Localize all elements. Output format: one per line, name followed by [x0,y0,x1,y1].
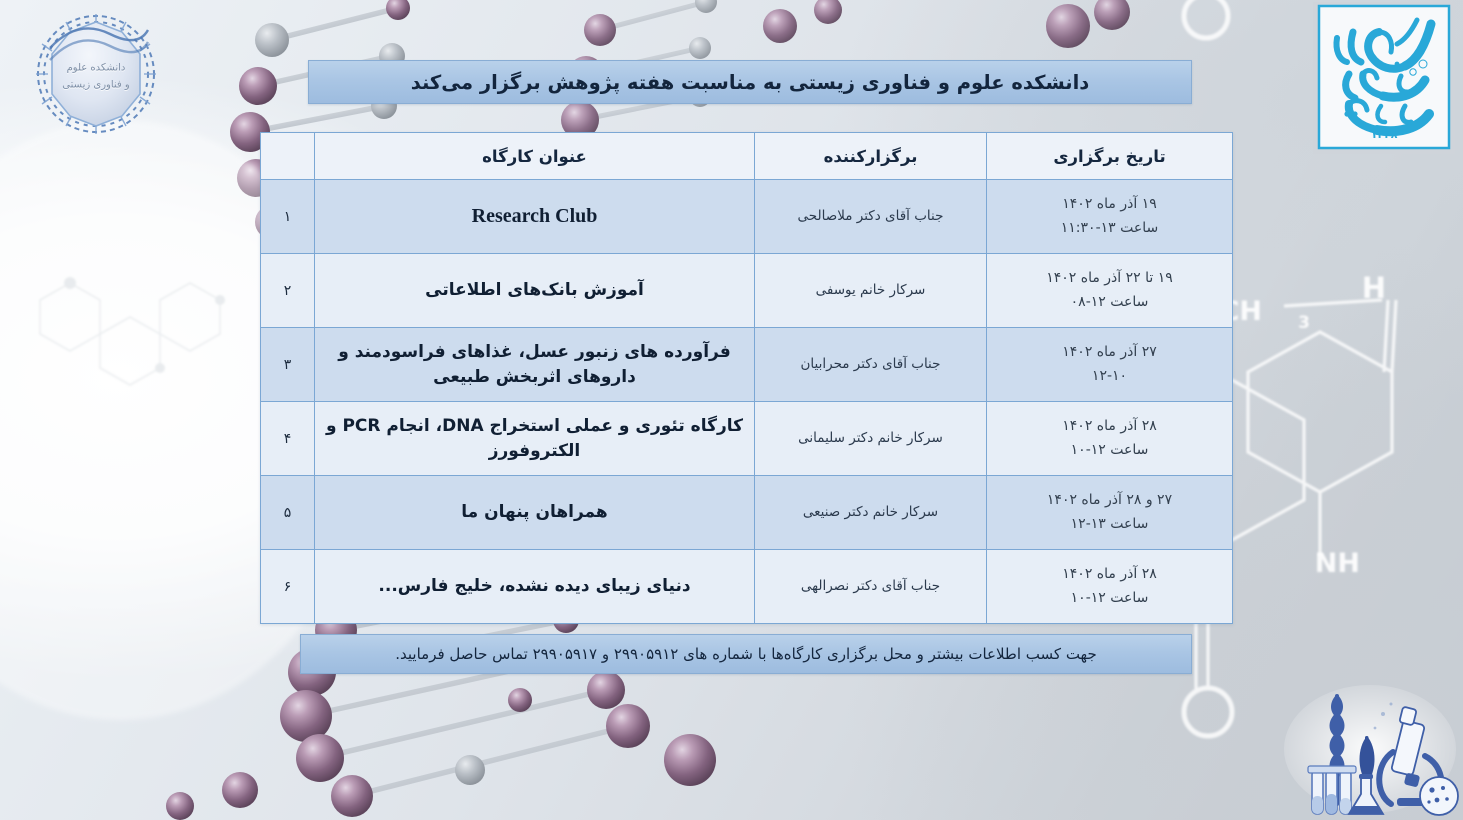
cell-date: ۱۹ آذر ماه ۱۴۰۲ساعت ۱۳-۱۱:۳۰ [987,180,1233,254]
header-banner-text: دانشکده علوم و فناوری زیستی به مناسبت هف… [411,71,1090,94]
faculty-seal-line2: و فناوری زیستی [12,77,180,94]
cell-workshop-title: همراهان پنهان ما [315,476,755,550]
date-line-1: ۱۹ تا ۲۲ آذر ماه ۱۴۰۲ [994,267,1225,290]
date-line-2: ساعت ۱۲-۱۰ [994,587,1225,610]
date-line-1: ۲۸ آذر ماه ۱۴۰۲ [994,415,1225,438]
table-row: ۲۷ و ۲۸ آذر ماه ۱۴۰۲ساعت ۱۳-۱۲سرکار خانم… [261,476,1233,550]
table-header: تاریخ برگزاری برگزارکننده عنوان کارگاه [261,133,1233,180]
cell-organizer: جناب آقای دکتر نصرالهی [755,550,987,624]
university-logo: ۱۳۳۸ [1313,2,1455,154]
shahid-beheshti-logo-icon: ۱۳۳۸ [1313,2,1455,154]
cell-row-number: ۱ [261,180,315,254]
date-line-1: ۱۹ آذر ماه ۱۴۰۲ [994,193,1225,216]
poster-canvas: CH 3 H NH [0,0,1463,820]
column-header-organizer: برگزارکننده [755,133,987,180]
header-banner: دانشکده علوم و فناوری زیستی به مناسبت هف… [308,60,1192,104]
table-row: ۲۷ آذر ماه ۱۴۰۲۱۲-۱۰جناب آقای دکتر محراب… [261,328,1233,402]
cell-workshop-title: دنیای زیبای دیده نشده، خلیج فارس... [315,550,755,624]
date-line-2: ساعت ۱۲-۱۰ [994,439,1225,462]
svg-text:3: 3 [1298,313,1310,333]
column-header-date: تاریخ برگزاری [987,133,1233,180]
cell-date: ۲۷ آذر ماه ۱۴۰۲۱۲-۱۰ [987,328,1233,402]
column-header-number [261,133,315,180]
footer-banner-text: جهت کسب اطلاعات بیشتر و محل برگزاری کارگ… [395,645,1097,663]
footer-banner: جهت کسب اطلاعات بیشتر و محل برگزاری کارگ… [300,634,1192,674]
faculty-seal-text: دانشکده علوم و فناوری زیستی [12,61,180,94]
cell-workshop-title: کارگاه تئوری و عملی استخراج DNA، انجام P… [315,402,755,476]
cell-organizer: سرکار خانم دکتر سلیمانی [755,402,987,476]
university-founding-year: ۱۳۳۸ [1371,128,1398,141]
date-line-1: ۲۸ آذر ماه ۱۴۰۲ [994,563,1225,586]
cell-workshop-title: آموزش بانک‌های اطلاعاتی [315,254,755,328]
date-line-2: ۱۲-۱۰ [994,365,1225,388]
cell-date: ۲۸ آذر ماه ۱۴۰۲ساعت ۱۲-۱۰ [987,402,1233,476]
table-row: ۱۹ تا ۲۲ آذر ماه ۱۴۰۲ساعت ۱۲-۰۸سرکار خان… [261,254,1233,328]
cell-row-number: ۵ [261,476,315,550]
table-body: ۱۹ آذر ماه ۱۴۰۲ساعت ۱۳-۱۱:۳۰جناب آقای دک… [261,180,1233,624]
cell-row-number: ۳ [261,328,315,402]
cell-organizer: سرکار خانم یوسفی [755,254,987,328]
cell-date: ۲۷ و ۲۸ آذر ماه ۱۴۰۲ساعت ۱۳-۱۲ [987,476,1233,550]
cell-row-number: ۲ [261,254,315,328]
table-row: ۲۸ آذر ماه ۱۴۰۲ساعت ۱۲-۱۰جناب آقای دکتر … [261,550,1233,624]
table-row: ۲۸ آذر ماه ۱۴۰۲ساعت ۱۲-۱۰سرکار خانم دکتر… [261,402,1233,476]
svg-text:H: H [1362,271,1386,305]
cell-date: ۲۸ آذر ماه ۱۴۰۲ساعت ۱۲-۱۰ [987,550,1233,624]
cell-organizer: جناب آقای دکتر ملاصالحی [755,180,987,254]
cell-date: ۱۹ تا ۲۲ آذر ماه ۱۴۰۲ساعت ۱۲-۰۸ [987,254,1233,328]
cell-workshop-title: فرآورده های زنبور عسل، غذاهای فراسودمند … [315,328,755,402]
cell-row-number: ۶ [261,550,315,624]
date-line-2: ساعت ۱۳-۱۱:۳۰ [994,217,1225,240]
date-line-2: ساعت ۱۲-۰۸ [994,291,1225,314]
faculty-seal-logo: دانشکده علوم و فناوری زیستی [12,8,180,146]
column-header-title: عنوان کارگاه [315,133,755,180]
biotech-illustration-logo [1279,678,1461,820]
cell-row-number: ۴ [261,402,315,476]
cell-workshop-title: Research Club [315,180,755,254]
date-line-1: ۲۷ آذر ماه ۱۴۰۲ [994,341,1225,364]
svg-text:NH: NH [1315,548,1360,579]
table-header-row: تاریخ برگزاری برگزارکننده عنوان کارگاه [261,133,1233,180]
cell-organizer: سرکار خانم دکتر صنیعی [755,476,987,550]
date-line-1: ۲۷ و ۲۸ آذر ماه ۱۴۰۲ [994,489,1225,512]
workshop-schedule-table: تاریخ برگزاری برگزارکننده عنوان کارگاه ۱… [260,132,1233,624]
date-line-2: ساعت ۱۳-۱۲ [994,513,1225,536]
cell-organizer: جناب آقای دکتر محرابیان [755,328,987,402]
table-row: ۱۹ آذر ماه ۱۴۰۲ساعت ۱۳-۱۱:۳۰جناب آقای دک… [261,180,1233,254]
faculty-seal-line1: دانشکده علوم [12,61,180,78]
biotech-illustration-icon [1279,678,1461,820]
